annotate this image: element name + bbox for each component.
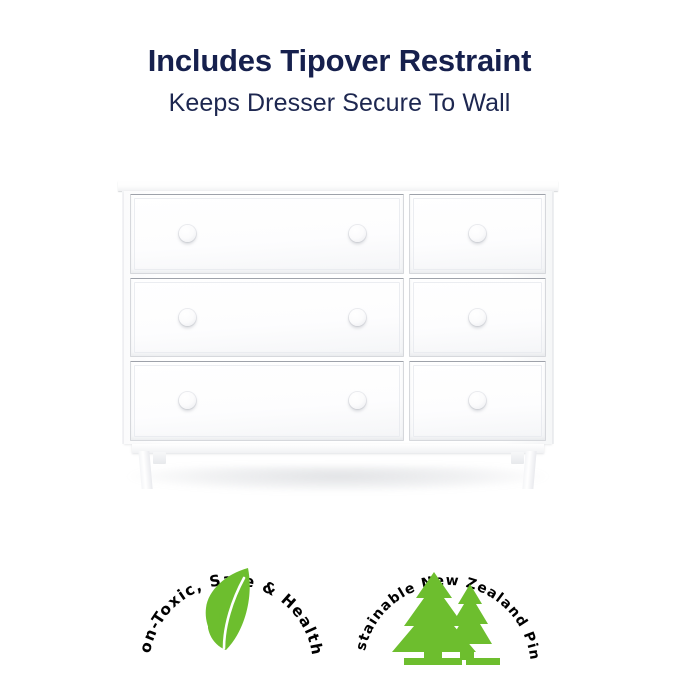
leg-bracket-left xyxy=(153,452,166,464)
dresser-top-surface xyxy=(118,180,558,191)
certification-badges: Non-Toxic, Safe & Healthy sustainable Ne… xyxy=(0,528,679,673)
drawer-top-left xyxy=(130,194,404,274)
product-feature-card: Includes Tipover Restraint Keeps Dresser… xyxy=(0,0,679,679)
drawer-knob-icon xyxy=(349,309,366,326)
drawer-bottom-left xyxy=(130,361,404,441)
drawer-knob-icon xyxy=(179,225,196,242)
product-image-stage xyxy=(0,170,679,510)
header-block: Includes Tipover Restraint Keeps Dresser… xyxy=(0,44,679,118)
drawer-middle-left xyxy=(130,278,404,358)
drawer-top-right xyxy=(409,194,546,274)
dresser-leg-right xyxy=(522,451,536,489)
drawer-bottom-right xyxy=(409,361,546,441)
drawer-knob-icon xyxy=(469,225,486,242)
drawer-knob-icon xyxy=(179,309,196,326)
drawer-knob-icon xyxy=(349,225,366,242)
drawer-column-right xyxy=(409,194,546,441)
page-title: Includes Tipover Restraint xyxy=(0,44,679,78)
page-subtitle: Keeps Dresser Secure To Wall xyxy=(0,89,679,118)
dresser-base-rail xyxy=(132,444,544,453)
dresser-leg-left xyxy=(138,451,152,489)
non-toxic-badge: Non-Toxic, Safe & Healthy xyxy=(136,528,326,668)
sustainable-pine-badge: sustainable New Zealand Pine xyxy=(352,528,542,668)
drawer-knob-icon xyxy=(469,309,486,326)
drawer-knob-icon xyxy=(349,392,366,409)
drawer-column-left xyxy=(130,194,404,441)
drawer-grid xyxy=(130,194,546,441)
drawer-knob-icon xyxy=(179,392,196,409)
leg-bracket-right xyxy=(511,452,524,464)
drawer-knob-icon xyxy=(469,392,486,409)
dresser-illustration xyxy=(118,180,558,492)
drawer-middle-right xyxy=(409,278,546,358)
